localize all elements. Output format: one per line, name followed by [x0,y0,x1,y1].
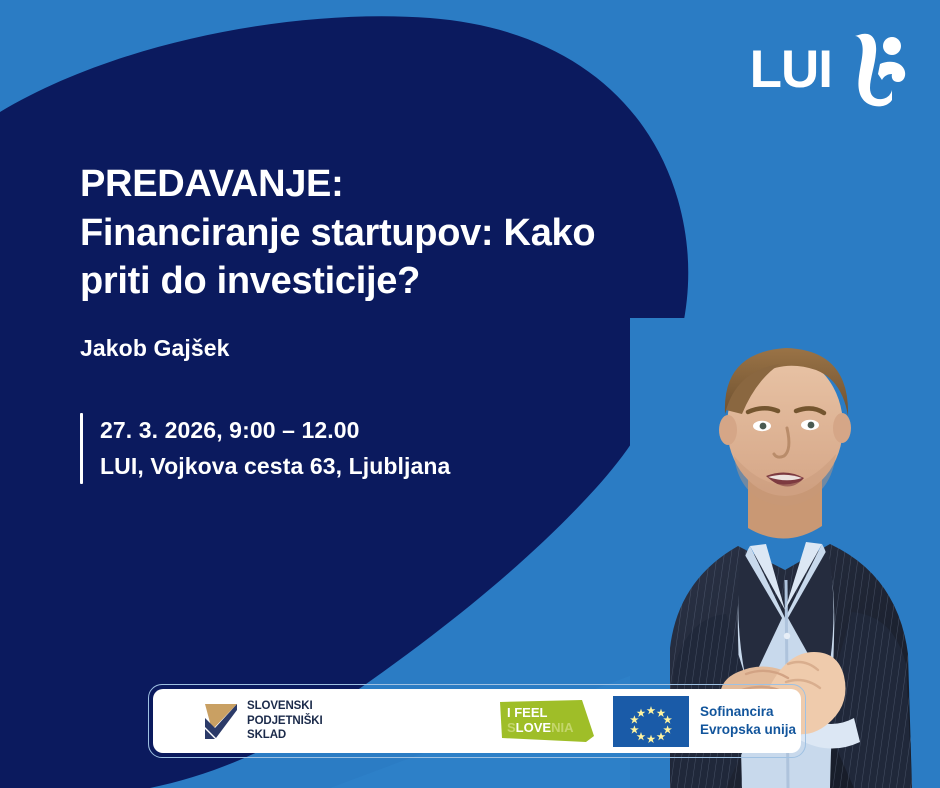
lui-logo[interactable]: LUI [750,30,908,108]
ifs-nia: NIA [551,720,574,735]
sps-line-1: SLOVENSKI [247,699,323,713]
event-datetime: 27. 3. 2026, 9:00 – 12.00 [100,413,450,449]
sps-line-2: PODJETNIŠKI [247,714,323,728]
eu-funding-text: Sofinancira Evropska unija [700,703,796,739]
sponsor-evropska-unija[interactable]: Sofinancira Evropska unija [613,696,796,747]
sponsor-i-feel-slovenia[interactable]: I FEEL SLOVENIA [498,698,594,744]
eu-flag-icon [613,696,689,747]
sponsor-bar: SLOVENSKI PODJETNIŠKI SKLAD I FEEL SLOVE… [153,689,801,753]
i-feel-slovenia-logo-icon: I FEEL SLOVENIA [498,698,594,744]
sps-logo-icon [201,700,241,742]
ifs-love: LOVE [516,720,552,735]
lui-blob-mark-icon [846,30,908,108]
event-location: LUI, Vojkova cesta 63, Ljubljana [100,449,450,485]
lui-wordmark: LUI [750,43,832,96]
headline-line-2: Financiranje startupov: Kako [80,209,720,258]
eu-line-2: Evropska unija [700,721,796,739]
sps-wordmark: SLOVENSKI PODJETNIŠKI SKLAD [247,699,323,742]
accent-bar [80,413,83,484]
ifs-line-1: I FEEL [507,705,548,720]
headline-line-1: PREDAVANJE: [80,160,720,209]
sponsor-slovenski-podjetniski-sklad[interactable]: SLOVENSKI PODJETNIŠKI SKLAD [201,699,323,742]
poster-canvas: LUI PREDAVANJE: Financiranje startupov: … [0,0,940,788]
sps-line-3: SKLAD [247,728,323,742]
svg-text:SLOVENIA: SLOVENIA [507,720,574,735]
event-details: 27. 3. 2026, 9:00 – 12.00 LUI, Vojkova c… [80,413,450,484]
headline-line-3: priti do investicije? [80,257,720,306]
speaker-name: Jakob Gajšek [80,335,230,362]
page-title: PREDAVANJE: Financiranje startupov: Kako… [80,160,720,306]
ifs-s: S [507,720,516,735]
eu-line-1: Sofinancira [700,703,796,721]
